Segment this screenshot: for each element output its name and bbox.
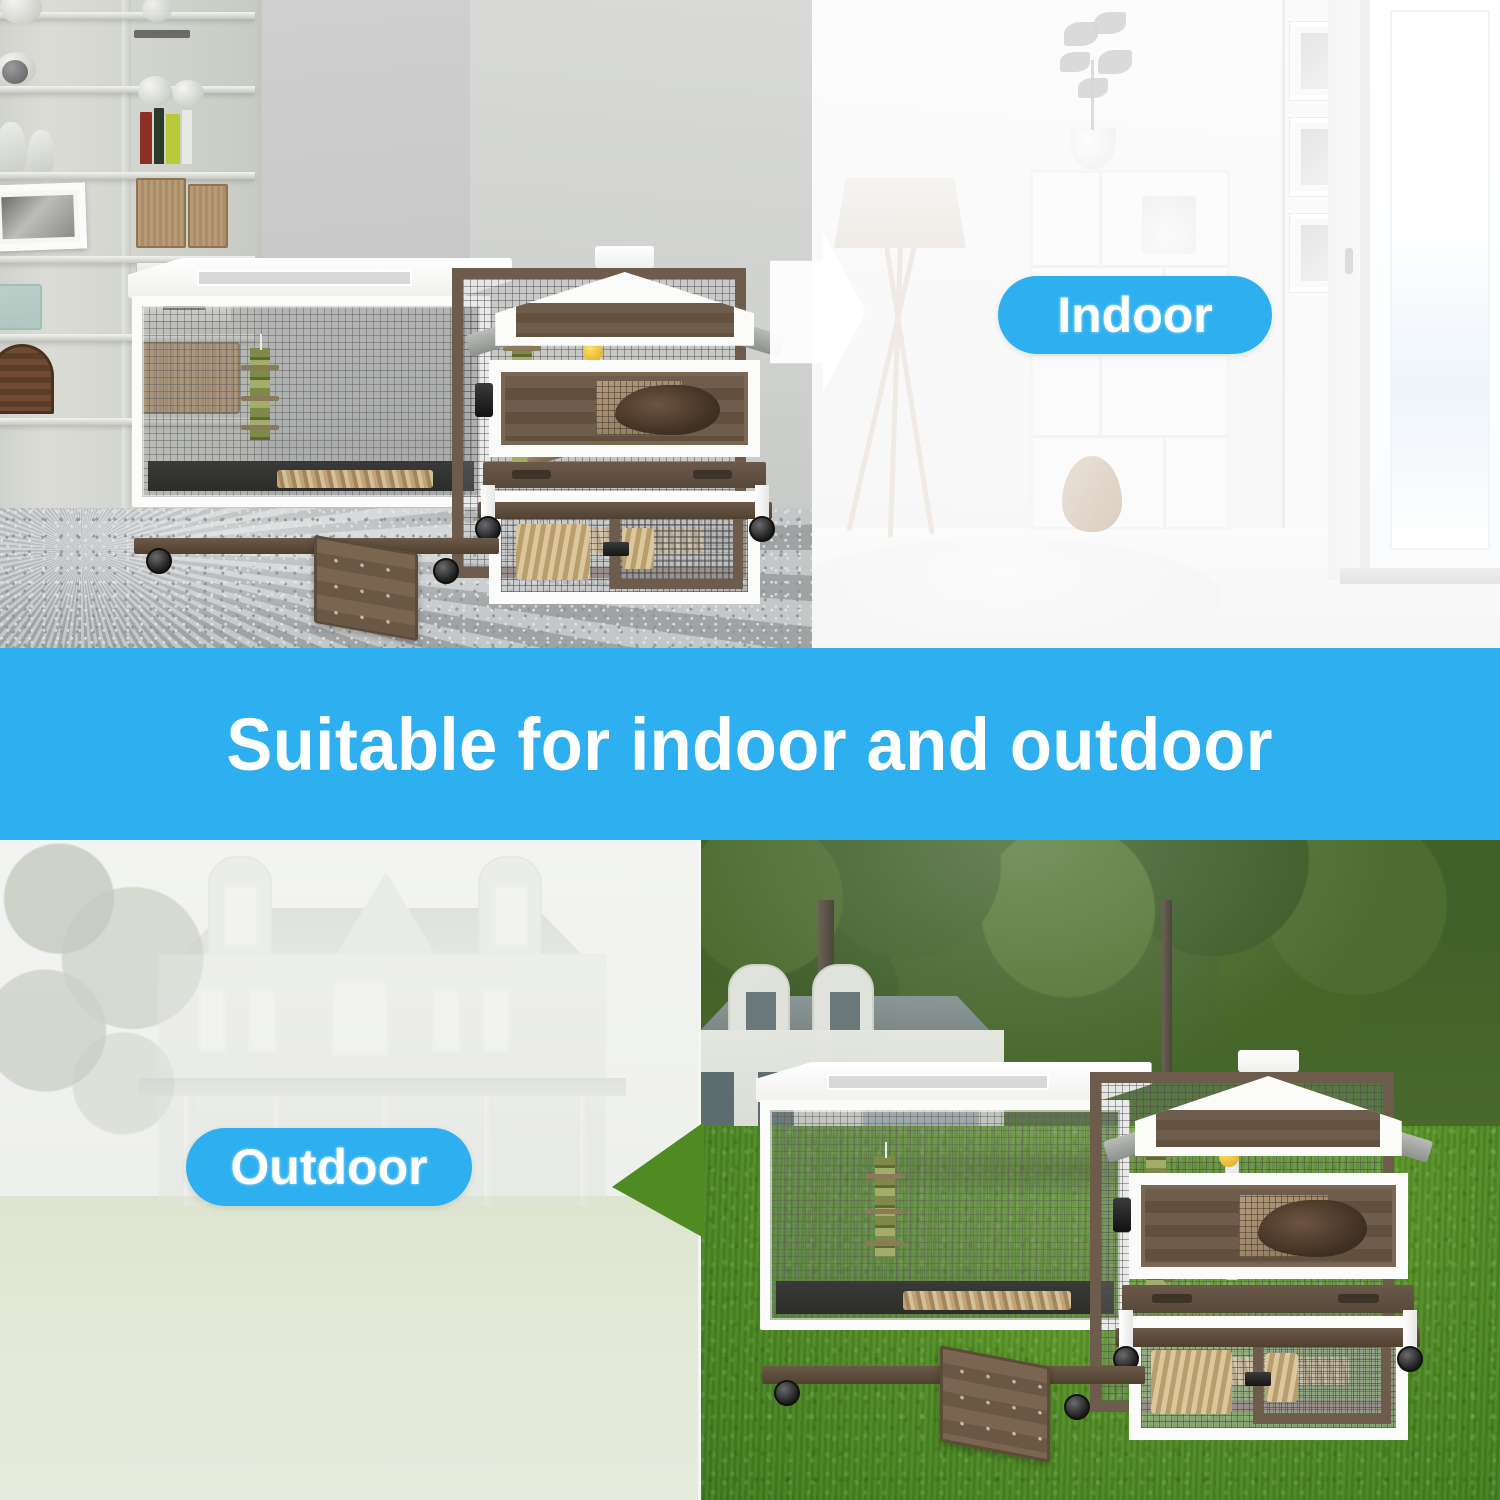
toy-disc [866, 1241, 904, 1246]
lawn [0, 1196, 700, 1500]
rabbit [615, 385, 720, 435]
porch-roof [138, 1078, 626, 1096]
badge-indoor: Indoor [998, 276, 1272, 354]
caster-wheel [774, 1380, 800, 1406]
decorative-vase [172, 80, 204, 106]
caster-wheel [1397, 1346, 1423, 1372]
roof-ridge-cap [595, 246, 654, 268]
toy-disc [866, 1174, 904, 1179]
house-window [432, 988, 460, 1052]
headline-banner: Suitable for indoor and outdoor [0, 648, 1500, 840]
exit-ramp [314, 535, 418, 641]
headline-text: Suitable for indoor and outdoor [227, 702, 1274, 787]
roof-ridge-cap [1238, 1050, 1299, 1072]
badge-outdoor-label: Outdoor [230, 1138, 427, 1196]
toy-disc [241, 425, 279, 430]
treat-toy-stack [250, 348, 270, 440]
bookcase-divider [122, 0, 131, 542]
plant-leaf [1078, 78, 1108, 98]
house-window [198, 988, 226, 1052]
hutch-run [760, 1100, 1130, 1330]
house-window [248, 988, 276, 1052]
wooden-chest [0, 344, 54, 414]
decorative-vase [138, 76, 172, 106]
tray-handle[interactable] [1338, 1294, 1379, 1303]
gable [495, 272, 754, 346]
door-latch[interactable] [603, 542, 629, 556]
hay-bundle [1151, 1350, 1233, 1414]
gable [1135, 1076, 1402, 1156]
rabbit [1258, 1200, 1367, 1257]
shelf-upright [1099, 173, 1102, 265]
decorative-tray [134, 30, 190, 38]
book [154, 108, 164, 164]
toy-hanger [885, 1142, 887, 1158]
bookcase-shelf [0, 172, 255, 179]
door-latch[interactable] [1245, 1372, 1271, 1386]
treat-toy-stack [875, 1156, 895, 1257]
bedding [277, 470, 433, 487]
toy-disc [241, 365, 279, 370]
house-window [700, 1072, 734, 1132]
upper-door[interactable] [489, 360, 760, 456]
hutch-body [1116, 1062, 1420, 1372]
plant-leaf [1098, 50, 1132, 74]
door-sill [1340, 568, 1500, 584]
patio-door-frame [1360, 0, 1500, 568]
hutch-run [132, 296, 490, 507]
door-hinge [1113, 1198, 1131, 1232]
caster-wheel [1064, 1394, 1090, 1420]
book [166, 114, 180, 164]
shelf-board [1033, 265, 1227, 268]
caster-wheel [433, 558, 459, 584]
patio-door-glass [1390, 10, 1490, 550]
door-hinge [475, 383, 493, 417]
glass-vase [28, 130, 54, 172]
lamp-shade [834, 178, 966, 248]
caster-wheel [146, 548, 172, 574]
door-handle[interactable] [1345, 248, 1353, 274]
shelf-upright [1163, 435, 1166, 529]
hay-bundle [516, 524, 590, 579]
shelf-potted-plant [1142, 196, 1196, 254]
upper-door-panel [501, 372, 748, 444]
plant-leaf [1064, 22, 1098, 46]
caster-wheel [749, 516, 775, 542]
bedding [903, 1291, 1071, 1310]
house-window [332, 980, 388, 1056]
composite-image: Indoor Suitable for indoor and outdoor [0, 0, 1500, 1500]
wall-corner [1282, 0, 1285, 540]
house-dormer [478, 856, 542, 968]
tree-trunk [1162, 900, 1172, 1080]
woven-basket [188, 184, 228, 248]
shelf-upright [1099, 353, 1102, 435]
tray-handle[interactable] [693, 470, 733, 479]
toy-disc [241, 396, 279, 401]
badge-indoor-label: Indoor [1057, 286, 1213, 344]
decorative-vase [0, 0, 42, 24]
hutch-base-rail [1116, 1328, 1420, 1347]
upper-door[interactable] [1129, 1173, 1408, 1278]
shelf-board [1033, 435, 1227, 438]
rabbit-hutch-outdoor [760, 1062, 1420, 1422]
book [140, 112, 152, 164]
hutch-base-rail [478, 502, 772, 519]
glass-vase [0, 122, 26, 172]
toy-disc [866, 1209, 904, 1214]
house-window [482, 988, 510, 1052]
pull-out-tray[interactable] [1122, 1285, 1413, 1313]
book [182, 110, 192, 164]
plant-leaf [1094, 12, 1126, 34]
upper-door-panel [1141, 1185, 1396, 1266]
badge-outdoor: Outdoor [186, 1128, 472, 1206]
glass-display-box [0, 284, 42, 330]
panel-backyard-lawn-with-hutch [700, 840, 1500, 1500]
porch-column [580, 1096, 590, 1206]
toy-hanger [260, 334, 262, 350]
porch-column [484, 1096, 494, 1206]
panel-indoor-room-with-hutch [0, 0, 812, 648]
bookcase-shelf [0, 86, 255, 93]
tray-handle[interactable] [512, 470, 552, 479]
woven-basket [136, 178, 186, 248]
framed-picture [0, 182, 87, 251]
decorative-sphere [2, 60, 28, 84]
house-dormer [208, 856, 272, 968]
tray-handle[interactable] [1152, 1294, 1193, 1303]
hutch-body [478, 258, 772, 542]
rabbit-hutch-indoor [132, 258, 772, 588]
pull-out-tray[interactable] [483, 462, 766, 488]
plant-leaf [1060, 52, 1090, 72]
